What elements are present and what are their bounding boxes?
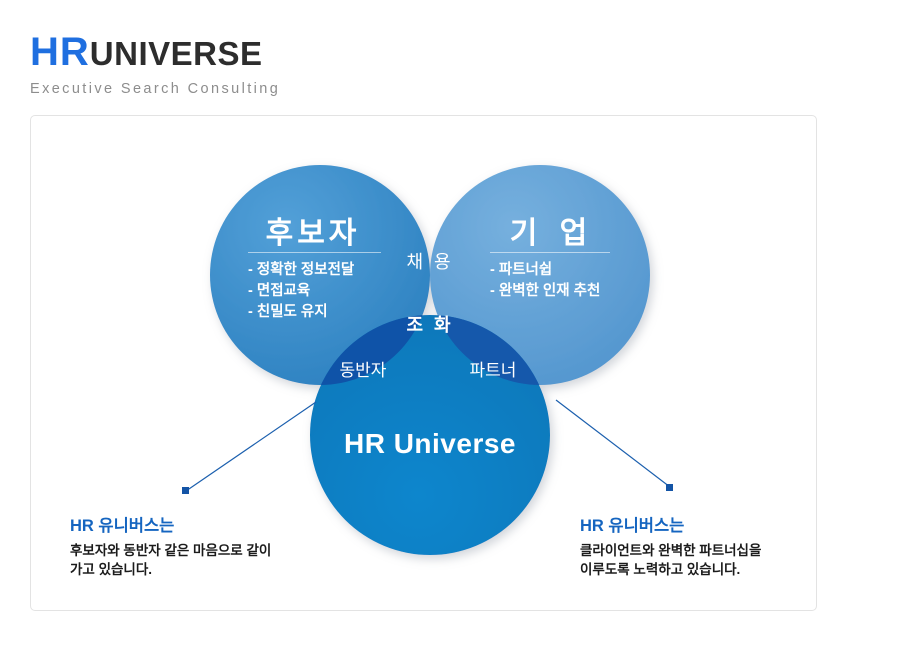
venn-label-right-lens: 파트너 [448,356,538,381]
logo-tagline: Executive Search Consulting [30,81,430,97]
bullet-item: - 완벽한 인재 추천 [490,281,690,302]
venn-label-candidate-title: 후보자 [223,208,403,252]
caption-line: 이루도록 노력하고 있습니다. [580,560,880,579]
caption-left: HR 유니버스는 후보자와 동반자 같은 마음으로 같이 가고 있습니다. [70,512,350,579]
venn-divider-candidate [248,252,381,253]
caption-line: 가고 있습니다. [70,560,350,579]
logo-wordmark: HRUNIVERSE [30,32,430,72]
caption-left-title: HR 유니버스는 [70,512,350,536]
venn-divider-company [490,252,610,253]
logo-mark-primary: HR [30,30,90,74]
venn-bullets-company: - 파트너쉽 - 완벽한 인재 추천 [490,260,690,302]
caption-line: 클라이언트와 완벽한 파트너십을 [580,541,880,560]
caption-right-body: 클라이언트와 완벽한 파트너십을 이루도록 노력하고 있습니다. [580,541,880,579]
caption-line: 후보자와 동반자 같은 마음으로 같이 [70,541,350,560]
caption-left-body: 후보자와 동반자 같은 마음으로 같이 가고 있습니다. [70,541,350,579]
venn-label-top-lens: 채 용 [385,248,475,274]
bullet-item: - 파트너쉽 [490,260,690,281]
caption-right-title: HR 유니버스는 [580,512,880,536]
logo-mark-secondary: UNIVERSE [90,35,263,72]
caption-right: HR 유니버스는 클라이언트와 완벽한 파트너십을 이루도록 노력하고 있습니다… [580,512,880,579]
venn-label-left-lens: 동반자 [318,356,408,381]
venn-label-center: 조 화 [385,311,475,337]
venn-label-hr-universe: HR Universe [300,428,560,460]
site-logo: HRUNIVERSE Executive Search Consulting [30,32,430,97]
venn-label-company-title: 기 업 [462,208,642,252]
bullet-item: - 면접교육 [248,281,428,302]
